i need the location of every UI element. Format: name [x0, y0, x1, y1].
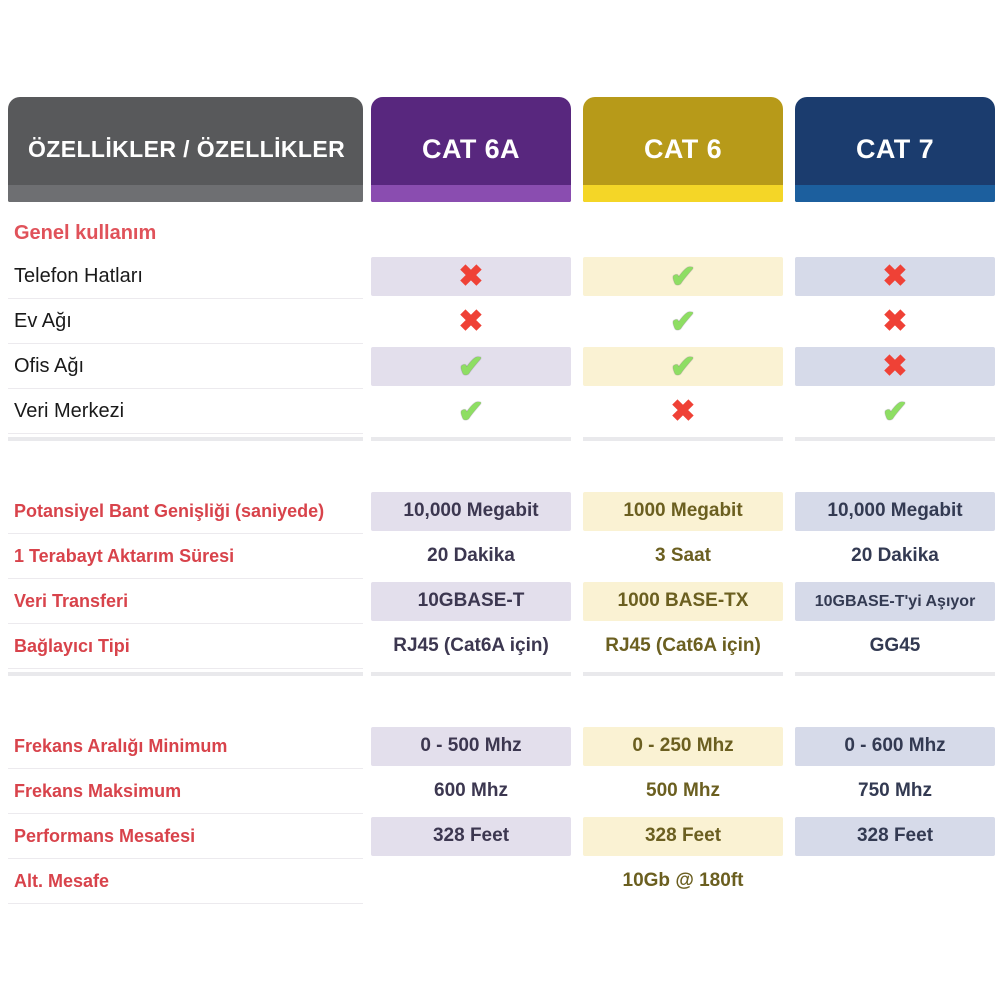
row-label: Bağlayıcı Tipi [14, 624, 130, 669]
header-cat6a-label: CAT 6A [371, 134, 571, 165]
table-cell: 20 Dakika [371, 537, 571, 576]
table-row: Potansiyel Bant Genişliği (saniyede)10,0… [0, 489, 1000, 534]
table-row: Bağlayıcı TipiRJ45 (Cat6A için)RJ45 (Cat… [0, 624, 1000, 669]
table-cell: RJ45 (Cat6A için) [583, 627, 783, 666]
table-cell: 1000 BASE-TX [583, 582, 783, 621]
table-cell: 0 - 250 Mhz [583, 727, 783, 766]
section-separator [0, 669, 1000, 724]
table-cell: ✖ [795, 257, 995, 296]
table-section: Genel kullanımTelefon Hatları✖✔✖Ev Ağı✖✔… [0, 212, 1000, 434]
table-cell: ✖ [795, 302, 995, 341]
header-tab-cat6[interactable]: CAT 6 [583, 97, 783, 202]
separator-bar [8, 437, 363, 441]
section-separator [0, 434, 1000, 489]
row-label: 1 Terabayt Aktarım Süresi [14, 534, 234, 579]
table-cell: ✔ [371, 347, 571, 386]
header-features-label: ÖZELLİKLER / ÖZELLİKLER [8, 136, 363, 163]
table-row: Veri Merkezi✔✖✔ [0, 389, 1000, 434]
check-icon: ✔ [458, 351, 484, 382]
table-cell: ✖ [795, 347, 995, 386]
header-tab-features[interactable]: ÖZELLİKLER / ÖZELLİKLER [8, 97, 363, 202]
table-cell [795, 862, 995, 901]
table-row: Telefon Hatları✖✔✖ [0, 254, 1000, 299]
separator-bar [371, 672, 571, 676]
row-label: Telefon Hatları [14, 254, 143, 299]
check-icon: ✔ [882, 396, 908, 427]
row-label: Frekans Maksimum [14, 769, 181, 814]
row-label: Potansiyel Bant Genişliği (saniyede) [14, 489, 324, 534]
table-cell: 20 Dakika [795, 537, 995, 576]
cross-icon: ✖ [882, 307, 907, 337]
row-label: Veri Transferi [14, 579, 128, 624]
separator-bar [583, 672, 783, 676]
header-tab-cat7[interactable]: CAT 7 [795, 97, 995, 202]
header-cat7-label: CAT 7 [795, 134, 995, 165]
header-cat6-accent [583, 185, 783, 202]
table-cell: 10GBASE-T'yi Aşıyor [795, 582, 995, 621]
table-cell: ✔ [795, 392, 995, 431]
table-row: Ev Ağı✖✔✖ [0, 299, 1000, 344]
table-section: Frekans Aralığı Minimum0 - 500 Mhz0 - 25… [0, 724, 1000, 904]
table-header: ÖZELLİKLER / ÖZELLİKLER CAT 6A CAT 6 CAT… [0, 97, 1000, 202]
table-cell: ✔ [371, 392, 571, 431]
table-cell: 10GBASE-T [371, 582, 571, 621]
comparison-table: ÖZELLİKLER / ÖZELLİKLER CAT 6A CAT 6 CAT… [0, 0, 1000, 1000]
header-cat6a-accent [371, 185, 571, 202]
table-row: Performans Mesafesi328 Feet328 Feet328 F… [0, 814, 1000, 859]
table-cell: 328 Feet [371, 817, 571, 856]
table-cell: ✖ [583, 392, 783, 431]
section-title: Genel kullanım [0, 212, 1000, 254]
separator-bar [795, 672, 995, 676]
cross-icon: ✖ [458, 262, 483, 292]
header-tab-cat6a[interactable]: CAT 6A [371, 97, 571, 202]
table-row: Frekans Aralığı Minimum0 - 500 Mhz0 - 25… [0, 724, 1000, 769]
table-cell: 0 - 500 Mhz [371, 727, 571, 766]
table-cell: RJ45 (Cat6A için) [371, 627, 571, 666]
table-cell: 10Gb @ 180ft [583, 862, 783, 901]
table-row: Frekans Maksimum600 Mhz500 Mhz750 Mhz [0, 769, 1000, 814]
header-cat6-label: CAT 6 [583, 134, 783, 165]
row-label: Alt. Mesafe [14, 859, 109, 904]
row-label: Performans Mesafesi [14, 814, 195, 859]
table-body: Genel kullanımTelefon Hatları✖✔✖Ev Ağı✖✔… [0, 212, 1000, 904]
table-cell: 0 - 600 Mhz [795, 727, 995, 766]
check-icon: ✔ [670, 261, 696, 292]
check-icon: ✔ [458, 396, 484, 427]
separator-bar [371, 437, 571, 441]
row-label: Ofis Ağı [14, 344, 84, 389]
table-cell: 328 Feet [583, 817, 783, 856]
separator-bar [8, 672, 363, 676]
table-cell: 1000 Megabit [583, 492, 783, 531]
table-cell: ✖ [371, 302, 571, 341]
table-cell: ✔ [583, 347, 783, 386]
table-section: Potansiyel Bant Genişliği (saniyede)10,0… [0, 489, 1000, 669]
table-row: 1 Terabayt Aktarım Süresi20 Dakika3 Saat… [0, 534, 1000, 579]
separator-bar [583, 437, 783, 441]
table-row: Alt. Mesafe10Gb @ 180ft [0, 859, 1000, 904]
row-divider [8, 903, 363, 904]
table-cell: 10,000 Megabit [371, 492, 571, 531]
cross-icon: ✖ [882, 262, 907, 292]
cross-icon: ✖ [882, 352, 907, 382]
check-icon: ✔ [670, 351, 696, 382]
table-cell: 3 Saat [583, 537, 783, 576]
table-row: Ofis Ağı✔✔✖ [0, 344, 1000, 389]
table-cell: ✖ [371, 257, 571, 296]
table-cell: 750 Mhz [795, 772, 995, 811]
cross-icon: ✖ [458, 307, 483, 337]
table-row: Veri Transferi10GBASE-T1000 BASE-TX10GBA… [0, 579, 1000, 624]
row-label: Ev Ağı [14, 299, 72, 344]
table-cell: ✔ [583, 257, 783, 296]
header-cat7-accent [795, 185, 995, 202]
table-cell: GG45 [795, 627, 995, 666]
table-cell [371, 862, 571, 901]
table-cell: 10,000 Megabit [795, 492, 995, 531]
cross-icon: ✖ [670, 397, 695, 427]
table-cell: ✔ [583, 302, 783, 341]
check-icon: ✔ [670, 306, 696, 337]
table-cell: 328 Feet [795, 817, 995, 856]
row-label: Frekans Aralığı Minimum [14, 724, 227, 769]
row-label: Veri Merkezi [14, 389, 124, 434]
header-features-accent [8, 185, 363, 202]
separator-bar [795, 437, 995, 441]
table-cell: 500 Mhz [583, 772, 783, 811]
table-cell: 600 Mhz [371, 772, 571, 811]
